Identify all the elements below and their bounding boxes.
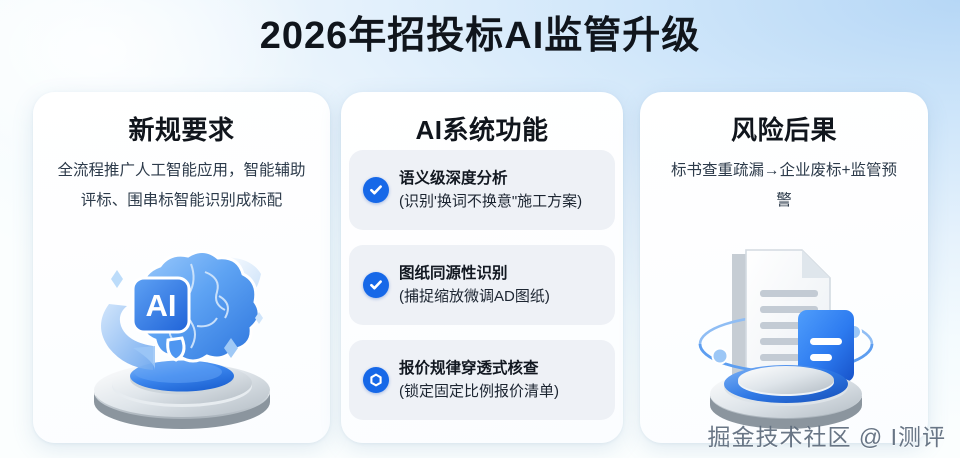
check-circle-icon xyxy=(363,177,389,203)
card-title-ai-system-functions: AI系统功能 xyxy=(341,110,623,147)
feature-detail: (锁定固定比例报价清单) xyxy=(399,383,559,400)
document-orbit-podium-illustration xyxy=(676,232,896,432)
feature-heading: 语义级深度分析 xyxy=(399,170,508,187)
feature-detail: (识别'换词不换意"施工方案) xyxy=(399,193,582,210)
hexagon-circle-icon xyxy=(363,367,389,393)
card-body-risk-consequences: 标书查重疏漏→企业废标+监管预警 xyxy=(664,156,904,216)
feature-list: 语义级深度分析 (识别'换词不换意"施工方案) 图纸同源性识别 (捕捉缩放微调A… xyxy=(349,150,615,435)
page-title: 2026年招投标AI监管升级 xyxy=(0,8,960,64)
feature-detail: (捕捉缩放微调AD图纸) xyxy=(399,288,550,305)
card-risk-consequences: 风险后果 标书查重疏漏→企业废标+监管预警 xyxy=(640,92,928,443)
card-new-rules: 新规要求 全流程推广人工智能应用，智能辅助评标、围串标智能识别成标配 xyxy=(33,92,330,443)
infographic-canvas: 2026年招投标AI监管升级 新规要求 全流程推广人工智能应用，智能辅助评标、围… xyxy=(0,0,960,458)
svg-text:AI: AI xyxy=(146,288,177,323)
feature-heading: 报价规律穿透式核查 xyxy=(399,360,539,377)
card-title-new-rules: 新规要求 xyxy=(33,110,330,147)
card-title-risk-consequences: 风险后果 xyxy=(640,110,928,147)
card-body-new-rules: 全流程推广人工智能应用，智能辅助评标、围串标智能识别成标配 xyxy=(51,156,312,216)
list-item[interactable]: 语义级深度分析 (识别'换词不换意"施工方案) xyxy=(349,150,615,230)
feature-heading: 图纸同源性识别 xyxy=(399,265,508,282)
watermark: 掘金技术社区 @ I测评 xyxy=(707,418,946,452)
check-circle-icon xyxy=(363,272,389,298)
list-item[interactable]: 图纸同源性识别 (捕捉缩放微调AD图纸) xyxy=(349,245,615,325)
card-ai-system-functions: AI系统功能 语义级深度分析 (识别'换词不换意"施工方案) 图纸同源性识别 (… xyxy=(341,92,623,443)
list-item[interactable]: 报价规律穿透式核查 (锁定固定比例报价清单) xyxy=(349,340,615,420)
ai-brain-podium-illustration: AI xyxy=(73,242,291,432)
